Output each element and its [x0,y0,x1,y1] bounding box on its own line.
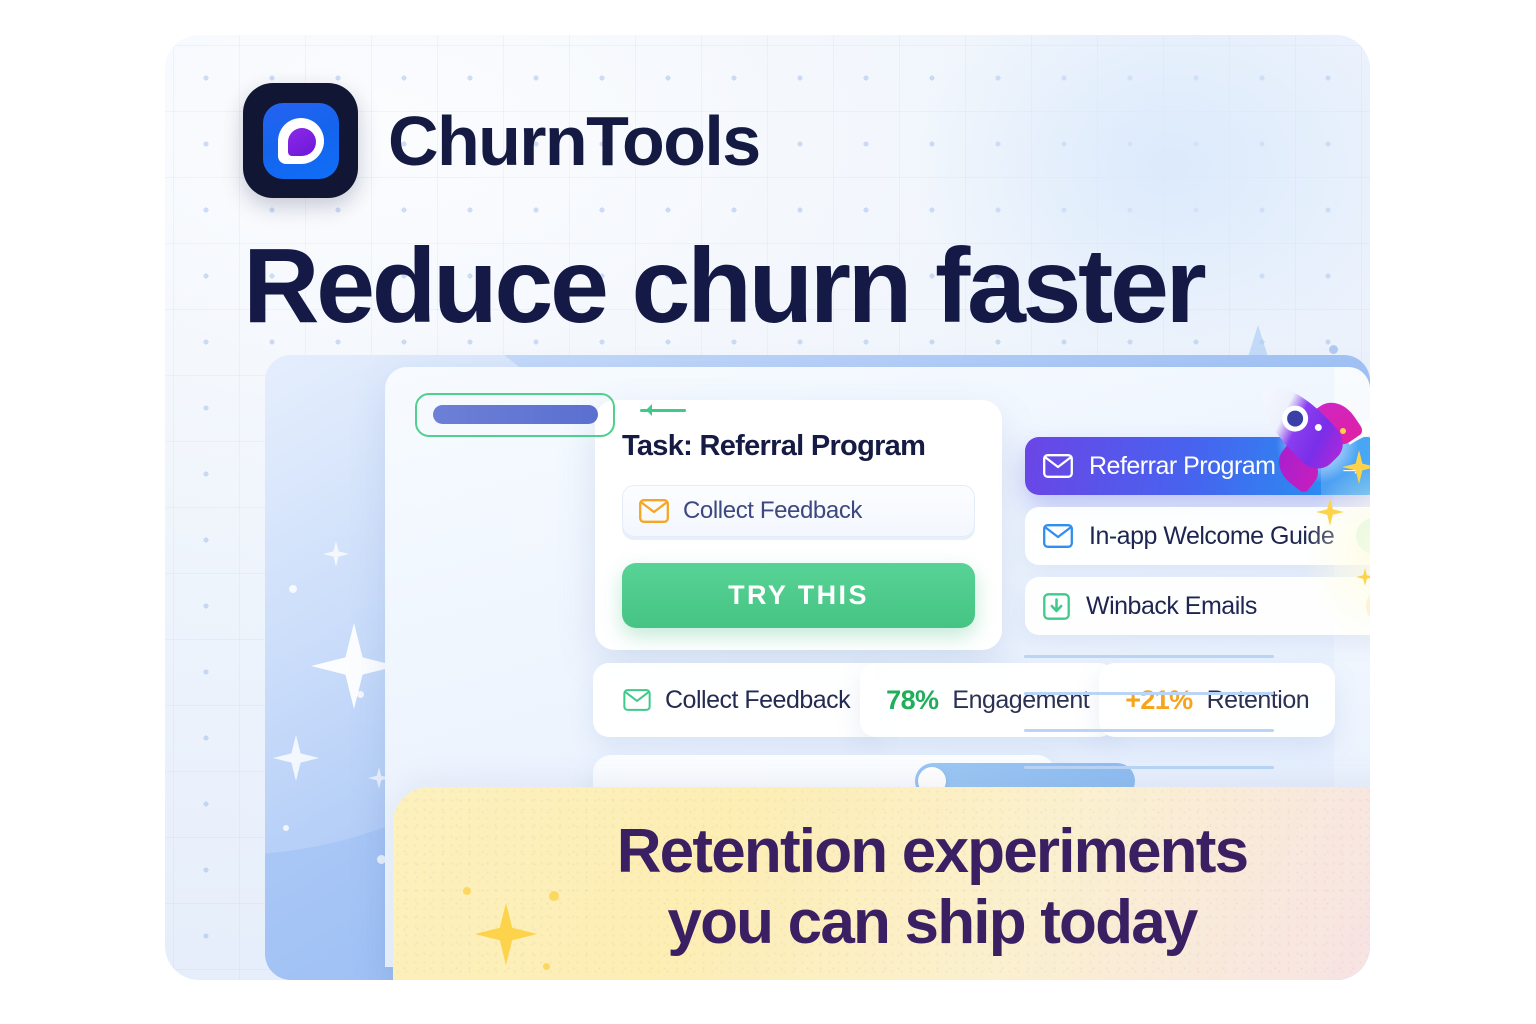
envelope-icon [623,689,651,711]
download-box-icon [1043,593,1070,620]
page-headline: Reduce churn faster [243,231,1203,342]
envelope-icon [1043,524,1073,548]
skeleton-progress-bar [433,405,598,424]
banner-line-2: you can ship today [393,886,1370,959]
collect-feedback-input-value: Collect Feedback [683,497,862,525]
try-this-button[interactable]: TRY THIS [622,563,975,628]
arrow-left-icon [640,409,686,412]
outer-card: ChurnTools Reduce churn faster [165,35,1370,980]
metric-row-label: Collect Feedback [665,686,850,715]
brand-header: ChurnTools [243,83,760,198]
metric-card-collect-feedback[interactable]: Collect Feedback [593,663,876,737]
collect-feedback-input[interactable]: Collect Feedback [622,485,975,537]
task-card: Task: Referral Program Collect Feedback … [595,400,1002,650]
logo-droplet-shape [278,118,324,164]
envelope-icon [639,499,669,523]
rocket-illustration [1220,350,1370,680]
banner-text-block: Retention experiments you can ship today [393,817,1370,960]
poster-canvas: ChurnTools Reduce churn faster [0,0,1536,1024]
bottom-banner: Retention experiments you can ship today [393,787,1370,980]
skeleton-line [1024,766,1274,769]
skeleton-line [1024,692,1274,695]
task-card-title: Task: Referral Program [622,430,975,463]
logo-inner-square [263,103,339,179]
envelope-icon [1043,454,1073,478]
brand-name: ChurnTools [388,106,760,176]
droplet-logo-icon [243,83,358,198]
skeleton-line [1024,729,1274,732]
engagement-value: 78% [886,685,938,716]
banner-line-1: Retention experiments [393,817,1370,886]
logo-droplet-fill [288,128,316,156]
